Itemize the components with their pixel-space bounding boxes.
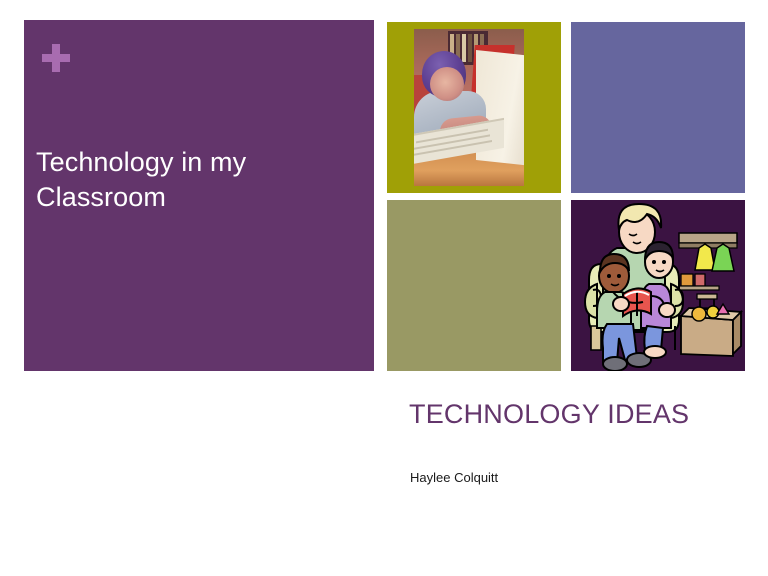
grid-cell-top-right: [571, 22, 745, 193]
grid-cell-top-left: [387, 22, 561, 193]
subtitle-heading: TECHNOLOGY IDEAS: [409, 399, 689, 430]
clipart-adult-reading-to-children: [571, 200, 745, 371]
photo-boy-at-computer: [414, 29, 524, 186]
presentation-slide: Technology in my Classroom: [0, 0, 768, 576]
title-panel: Technology in my Classroom: [24, 20, 374, 371]
grid-cell-bottom-right: [571, 200, 745, 371]
plus-icon: [36, 38, 76, 78]
page-title: Technology in my Classroom: [36, 145, 326, 215]
image-grid: [387, 22, 745, 371]
grid-cell-bottom-left: [387, 200, 561, 371]
author-name: Haylee Colquitt: [410, 470, 498, 485]
